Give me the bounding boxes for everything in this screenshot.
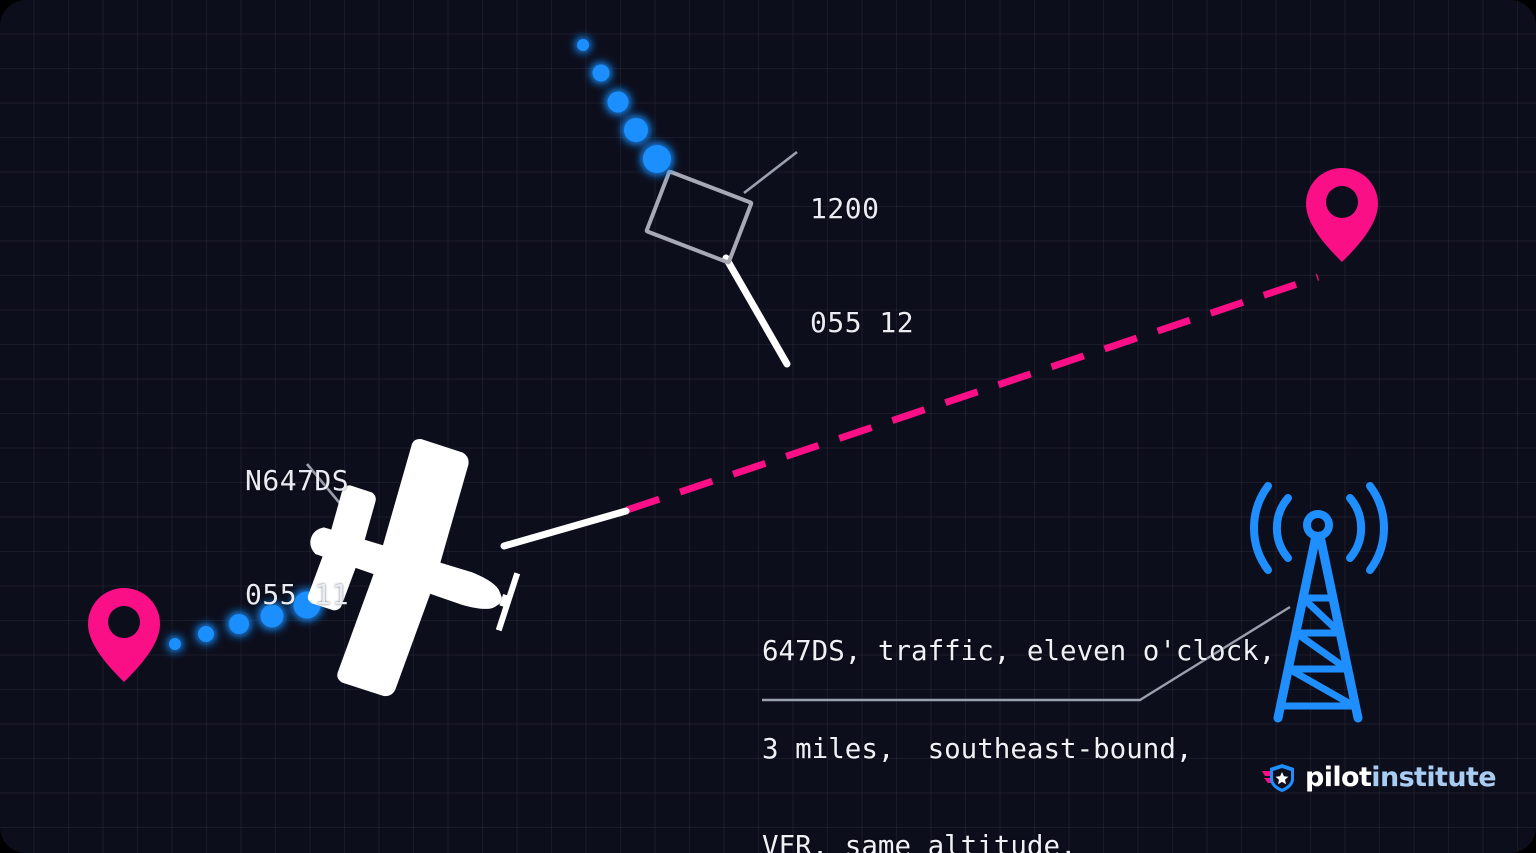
destination-map-pin-icon xyxy=(1306,168,1378,262)
own-aircraft-label-line-2: 055 11 xyxy=(245,576,349,614)
radio-call-text: 647DS, traffic, eleven o'clock, 3 miles,… xyxy=(762,570,1275,853)
radio-call-line-1: 647DS, traffic, eleven o'clock, xyxy=(762,635,1275,668)
logo-text-institute: institute xyxy=(1371,762,1496,793)
traffic-label-leader-line xyxy=(744,152,797,193)
traffic-label-line-1: 1200 xyxy=(810,190,914,228)
own-aircraft-velocity-vector xyxy=(504,511,626,546)
traffic-target-box xyxy=(646,171,751,262)
traffic-velocity-vector xyxy=(726,258,787,364)
own-aircraft-label: N647DS 055 11 xyxy=(245,386,349,690)
winged-shield-star-icon xyxy=(1262,763,1296,793)
origin-map-pin-icon xyxy=(88,588,160,682)
planned-route-dashed-line xyxy=(627,277,1318,510)
radio-call-line-3: VFR, same altitude. xyxy=(762,830,1275,853)
traffic-target-label: 1200 055 12 xyxy=(810,114,914,418)
traffic-trail-dots xyxy=(577,39,671,173)
logo-text-pilot: pilot xyxy=(1305,762,1371,793)
own-aircraft-label-line-1: N647DS xyxy=(245,462,349,500)
traffic-label-line-2: 055 12 xyxy=(810,304,914,342)
radio-call-line-2: 3 miles, southeast-bound, xyxy=(762,733,1275,766)
diagram-canvas: 1200 055 12 N647DS 055 11 647DS, traffic… xyxy=(0,0,1536,853)
logo-wordmark: pilotinstitute xyxy=(1305,762,1496,793)
pilot-institute-logo: pilotinstitute xyxy=(1262,762,1496,793)
